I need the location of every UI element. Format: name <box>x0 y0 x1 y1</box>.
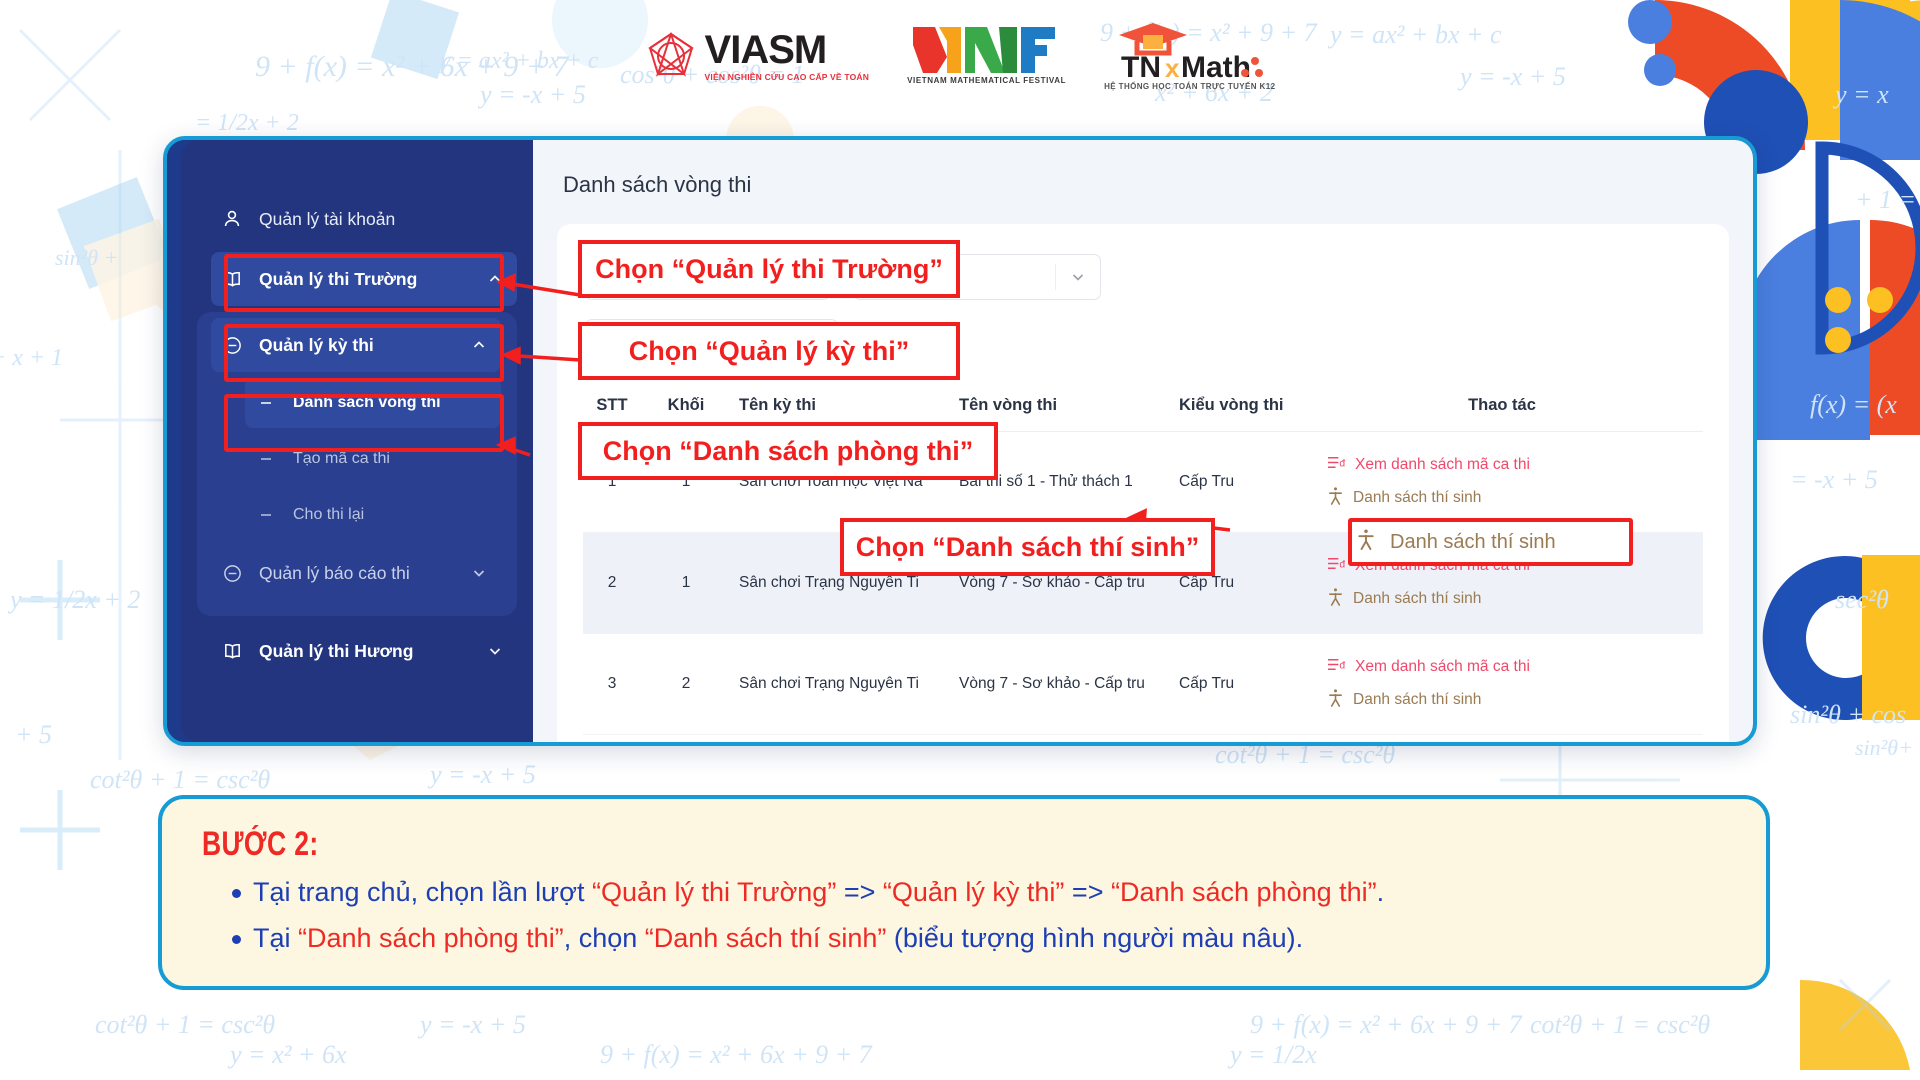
note-part: . <box>1377 877 1385 907</box>
sidebar-item-label: Quản lý tài khoản <box>259 209 503 230</box>
bullet-dot <box>232 935 241 944</box>
minus-circle-icon <box>221 334 243 356</box>
callout-text: Chọn “Quản lý kỳ thi” <box>629 336 910 367</box>
instruction-note: BƯỚC 2: Tại trang chủ, chọn lần lượt “Qu… <box>158 795 1770 990</box>
book-icon <box>221 640 243 662</box>
sidebar-item-label: Tạo mã ca thi <box>293 450 487 468</box>
note-part: “Danh sách thí sinh” <box>645 923 887 953</box>
note-part: “Quản lý thi Trường” <box>592 877 836 907</box>
vnmf-logo: VIETNAM MATHEMATICAL FESTIVAL <box>907 27 1066 85</box>
person-icon <box>1327 688 1344 712</box>
sidebar-item-label: Cho thi lại <box>293 506 487 524</box>
note-title: BƯỚC 2: <box>202 825 1391 864</box>
sidebar-item-tao-ma-ca-thi[interactable]: Tạo mã ca thi <box>245 434 501 484</box>
note-bullet-text: Tại “Danh sách phòng thi”, chọn “Danh sá… <box>253 920 1303 956</box>
page-title: Danh sách vòng thi <box>563 172 751 198</box>
note-part: Tại trang chủ, chọn lần lượt <box>253 877 592 907</box>
note-part: “Quản lý kỳ thi” <box>883 877 1065 907</box>
highlighted-action-danh-sach-thi-sinh[interactable]: Danh sách thí sinh <box>1356 524 1626 560</box>
action-group: đ Xem danh sách mã ca thi <box>1309 656 1695 712</box>
sidebar-item-label: Danh sách vòng thi <box>293 394 487 412</box>
sidebar-item-label: Quản lý thi Hương <box>259 641 471 662</box>
vnmf-tagline: VIETNAM MATHEMATICAL FESTIVAL <box>907 76 1066 85</box>
sidebar-item-danh-sach-vong-thi[interactable]: Danh sách vòng thi <box>245 378 501 428</box>
bullet-dot <box>232 889 241 898</box>
callout-danh-sach-phong-thi: Chọn “Danh sách phòng thi” <box>578 422 998 480</box>
tnmath-logo: TN x Math HỆ THỐNG HỌC TOÁN TRỰC TUYẾN K… <box>1104 21 1275 91</box>
callout-quan-ly-thi-truong: Chọn “Quản lý thi Trường” <box>578 240 960 298</box>
viasm-logo: VIASM VIỆN NGHIÊN CỨU CAO CẤP VỀ TOÁN <box>645 30 870 82</box>
note-part: => <box>1064 877 1111 907</box>
note-part: (biểu tượng hình người màu nâu). <box>886 923 1303 953</box>
callout-danh-sach-thi-sinh: Chọn “Danh sách thí sinh” <box>840 518 1215 576</box>
note-part: , chọn <box>564 923 645 953</box>
callout-quan-ly-ky-thi: Chọn “Quản lý kỳ thi” <box>578 322 960 380</box>
svg-text:TN: TN <box>1121 51 1161 81</box>
viasm-tagline: VIỆN NGHIÊN CỨU CAO CẤP VỀ TOÁN <box>705 72 870 82</box>
vnmf-icon <box>913 27 1061 73</box>
minus-circle-icon <box>221 562 243 584</box>
note-bullet-text: Tại trang chủ, chọn lần lượt “Quản lý th… <box>253 874 1384 910</box>
logo-bar: VIASM VIỆN NGHIÊN CỨU CAO CẤP VỀ TOÁN VI… <box>0 8 1920 104</box>
sidebar-item-quan-ly-bao-cao-thi[interactable]: Quản lý báo cáo thi <box>211 546 501 600</box>
note-part: => <box>836 877 883 907</box>
note-part: “Danh sách phòng thi” <box>1111 877 1377 907</box>
sidebar-item-label: Quản lý báo cáo thi <box>259 563 455 584</box>
action-xem-ma-ca-thi[interactable]: đ Xem danh sách mã ca thi <box>1327 656 1530 678</box>
action-danh-sach-thi-sinh[interactable]: Danh sách thí sinh <box>1327 688 1481 712</box>
person-icon <box>1356 527 1376 557</box>
dash-icon <box>255 448 277 470</box>
svg-text:Math: Math <box>1181 51 1251 81</box>
list-code-icon: đ <box>1327 656 1346 678</box>
dash-icon <box>255 392 277 414</box>
dash-icon <box>255 504 277 526</box>
callout-text: Chọn “Danh sách phòng thi” <box>603 436 973 467</box>
tnmath-tagline: HỆ THỐNG HỌC TOÁN TRỰC TUYẾN K12 <box>1104 82 1275 91</box>
tnmath-icon: TN x Math <box>1115 21 1265 81</box>
sidebar-item-label: Quản lý thi Trường <box>259 269 471 290</box>
viasm-wordmark: VIASM <box>705 30 870 70</box>
user-icon <box>221 208 243 230</box>
svg-text:x: x <box>1165 53 1180 81</box>
note-bullet: Tại trang chủ, chọn lần lượt “Quản lý th… <box>232 874 1726 910</box>
note-bullet: Tại “Danh sách phòng thi”, chọn “Danh sá… <box>232 920 1726 956</box>
sidebar-item-cho-thi-lai[interactable]: Cho thi lại <box>245 490 501 540</box>
action-label: Danh sách thí sinh <box>1390 531 1556 554</box>
viasm-icon <box>645 30 697 82</box>
note-part: “Danh sách phòng thi” <box>298 923 564 953</box>
callout-text: Chọn “Quản lý thi Trường” <box>595 254 943 285</box>
book-icon <box>221 268 243 290</box>
action-label: Xem danh sách mã ca thi <box>1355 658 1530 676</box>
action-label: Danh sách thí sinh <box>1353 691 1481 709</box>
sidebar-item-label: Quản lý kỳ thi <box>259 335 455 356</box>
sidebar-item-quan-ly-ky-thi[interactable]: Quản lý kỳ thi <box>211 318 501 372</box>
sidebar-group-quan-ly-ky-thi: Quản lý kỳ thi Danh sách vòng thi Tạo <box>197 312 517 616</box>
note-part: Tại <box>253 923 298 953</box>
callout-text: Chọn “Danh sách thí sinh” <box>856 532 1200 563</box>
svg-text:đ: đ <box>1339 660 1345 671</box>
